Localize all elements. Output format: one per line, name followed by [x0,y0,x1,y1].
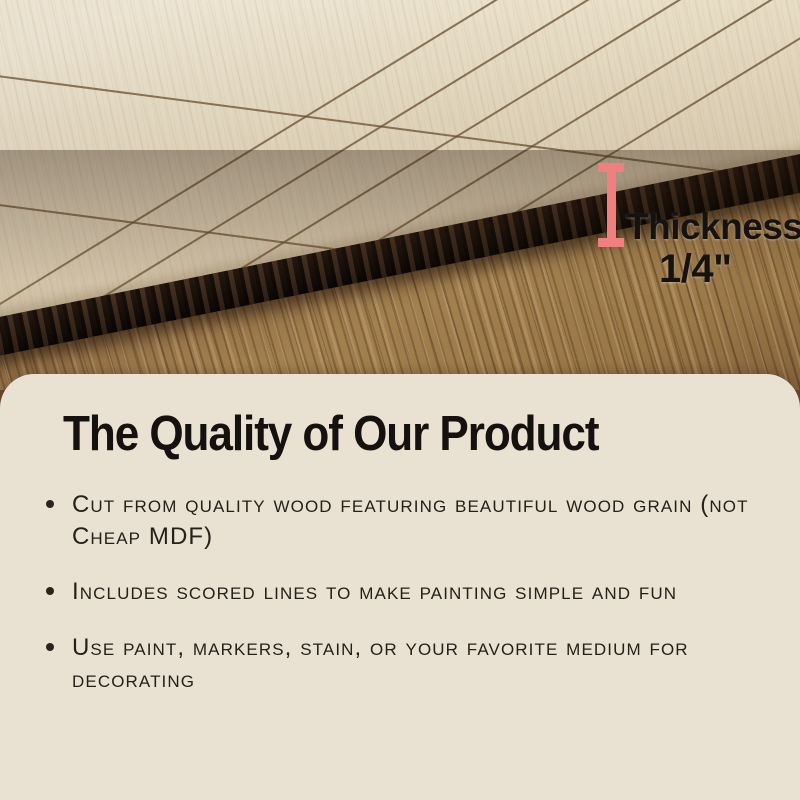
quality-bullet-list: Cut from quality wood featuring beautifu… [0,459,800,695]
list-item: Cut from quality wood featuring beautifu… [46,489,772,552]
thickness-measure-bracket-icon [598,163,624,247]
product-photo: Thickness 1/4" [0,0,800,390]
product-infographic: Thickness 1/4" The Quality of Our Produc… [0,0,800,800]
bullet-dot-icon [46,643,54,651]
list-item: Includes scored lines to make painting s… [46,576,772,608]
list-item-text: Includes scored lines to make painting s… [72,578,677,605]
thickness-value: 1/4" [659,247,732,292]
bracket-bar [607,163,616,247]
thickness-label: Thickness [626,206,800,248]
card-title: The Quality of Our Product [0,374,720,459]
list-item-text: Cut from quality wood featuring beautifu… [72,491,749,550]
bullet-dot-icon [46,587,54,595]
quality-info-card: The Quality of Our Product Cut from qual… [0,374,800,800]
list-item-text: Use paint, markers, stain, or your favor… [72,634,689,693]
list-item: Use paint, markers, stain, or your favor… [46,632,772,695]
bracket-cap-bottom [598,238,624,247]
bullet-dot-icon [46,500,54,508]
